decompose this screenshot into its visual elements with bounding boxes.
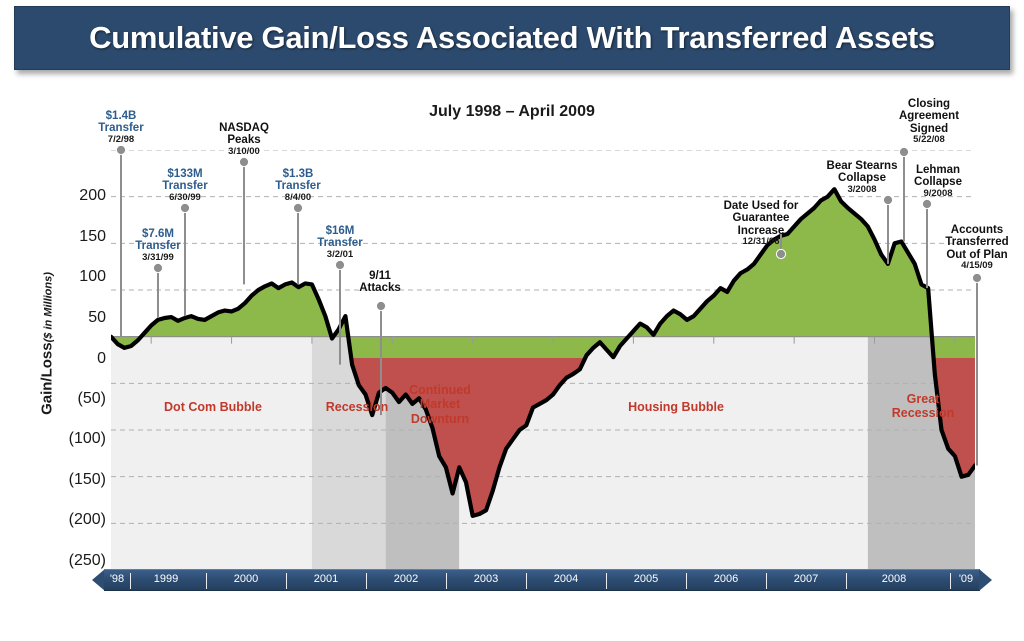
x-tick-2001: 2001: [314, 573, 338, 585]
x-tick-98: '98: [110, 573, 124, 585]
annotation-911-attacks: 9/11 Attacks: [344, 270, 416, 295]
annotation-nasdaq-peaks-l2: Peaks: [200, 134, 288, 146]
annotation-911-attacks-l1: 9/11: [344, 270, 416, 282]
annotation-transfer-1-4b-date: 7/2/98: [82, 135, 160, 145]
annotation-transfer-16m-date: 3/2/01: [300, 250, 380, 260]
annotation-guarantee-increase-l1: Date Used for: [706, 200, 816, 212]
x-axis-bar: '98 1999 2000 2001 2002 2003 2004 2005 2…: [92, 569, 992, 591]
annotation-transfer-1-4b-l1: $1.4B: [82, 110, 160, 122]
annotation-transfer-7-6m-l2: Transfer: [118, 240, 198, 252]
y-axis-ticks: 200 150 100 50 0 (50) (100) (150) (200) …: [28, 0, 106, 641]
annotation-transfer-7-6m-date: 3/31/99: [118, 253, 198, 263]
title-banner: Cumulative Gain/Loss Associated With Tra…: [14, 6, 1010, 70]
annotation-closing-agreement: Closing Agreement Signed 5/22/08: [884, 98, 974, 145]
x-tick-2002: 2002: [394, 573, 418, 585]
annotation-lehman-collapse-l1: Lehman: [896, 164, 980, 176]
annotation-transfer-1-3b: $1.3B Transfer 8/4/00: [257, 168, 339, 203]
annotation-accounts-transferred-l2: Transferred: [934, 236, 1020, 248]
annotation-transfer-133m-l2: Transfer: [143, 180, 227, 192]
chart-page: Cumulative Gain/Loss Associated With Tra…: [0, 0, 1024, 641]
y-tick-200: 200: [34, 188, 106, 204]
y-tick-neg200: (200): [34, 512, 106, 528]
x-tick-1999: 1999: [154, 573, 178, 585]
y-tick-neg150: (150): [34, 472, 106, 488]
annotation-lehman-collapse-l2: Collapse: [896, 176, 980, 188]
annotation-lehman-collapse-date: 9/2008: [896, 189, 980, 199]
x-axis-bar-body: '98 1999 2000 2001 2002 2003 2004 2005 2…: [104, 569, 980, 591]
annotation-transfer-1-4b: $1.4B Transfer 7/2/98: [82, 110, 160, 145]
x-tick-2004: 2004: [554, 573, 578, 585]
annotation-transfer-1-3b-date: 8/4/00: [257, 193, 339, 203]
annotation-lehman-collapse: Lehman Collapse 9/2008: [896, 164, 980, 199]
x-axis-arrow-right: [979, 569, 992, 591]
annotation-closing-agreement-l2: Agreement: [884, 110, 974, 122]
era-band-0: [111, 337, 312, 570]
annotation-transfer-7-6m: $7.6M Transfer 3/31/99: [118, 228, 198, 263]
annotation-transfer-1-4b-l2: Transfer: [82, 122, 160, 134]
annotation-nasdaq-peaks-l1: NASDAQ: [200, 122, 288, 134]
annotation-guarantee-increase-date: 12/31/06: [706, 237, 816, 247]
annotation-closing-agreement-l1: Closing: [884, 98, 974, 110]
annotation-transfer-7-6m-l1: $7.6M: [118, 228, 198, 240]
annotation-transfer-133m: $133M Transfer 6/30/99: [143, 168, 227, 203]
x-tick-2008: 2008: [882, 573, 906, 585]
x-tick-2005: 2005: [634, 573, 658, 585]
x-tick-2003: 2003: [474, 573, 498, 585]
x-tick-2000: 2000: [234, 573, 258, 585]
annotation-guarantee-increase-l2: Guarantee: [706, 212, 816, 224]
annotation-accounts-transferred-date: 4/15/09: [934, 261, 1020, 271]
annotation-transfer-1-3b-l2: Transfer: [257, 180, 339, 192]
annotation-accounts-transferred: Accounts Transferred Out of Plan 4/15/09: [934, 224, 1020, 271]
annotation-transfer-16m-l1: $16M: [300, 225, 380, 237]
annotation-transfer-16m-l2: Transfer: [300, 237, 380, 249]
annotation-accounts-transferred-l1: Accounts: [934, 224, 1020, 236]
y-tick-0: 0: [34, 351, 106, 367]
y-tick-neg250: (250): [34, 553, 106, 569]
y-tick-neg50: (50): [34, 391, 106, 407]
annotation-nasdaq-peaks-date: 3/10/00: [200, 147, 288, 157]
x-tick-2007: 2007: [794, 573, 818, 585]
annotation-transfer-16m: $16M Transfer 3/2/01: [300, 225, 380, 260]
annotation-transfer-1-3b-l1: $1.3B: [257, 168, 339, 180]
annotation-transfer-133m-l1: $133M: [143, 168, 227, 180]
x-tick-2006: 2006: [714, 573, 738, 585]
y-tick-neg100: (100): [34, 431, 106, 447]
page-title: Cumulative Gain/Loss Associated With Tra…: [89, 20, 935, 56]
y-tick-100: 100: [34, 269, 106, 285]
y-tick-50: 50: [34, 310, 106, 326]
x-tick-09: '09: [959, 573, 973, 585]
y-tick-150: 150: [34, 229, 106, 245]
annotation-911-attacks-l2: Attacks: [344, 282, 416, 294]
chart-svg: [111, 150, 975, 570]
annotation-nasdaq-peaks: NASDAQ Peaks 3/10/00: [200, 122, 288, 157]
annotation-guarantee-increase: Date Used for Guarantee Increase 12/31/0…: [706, 200, 816, 247]
annotation-closing-agreement-date: 5/22/08: [884, 135, 974, 145]
plot-area: Dot Com Bubble Recession Continued Marke…: [111, 150, 975, 570]
annotation-transfer-133m-date: 6/30/99: [143, 193, 227, 203]
